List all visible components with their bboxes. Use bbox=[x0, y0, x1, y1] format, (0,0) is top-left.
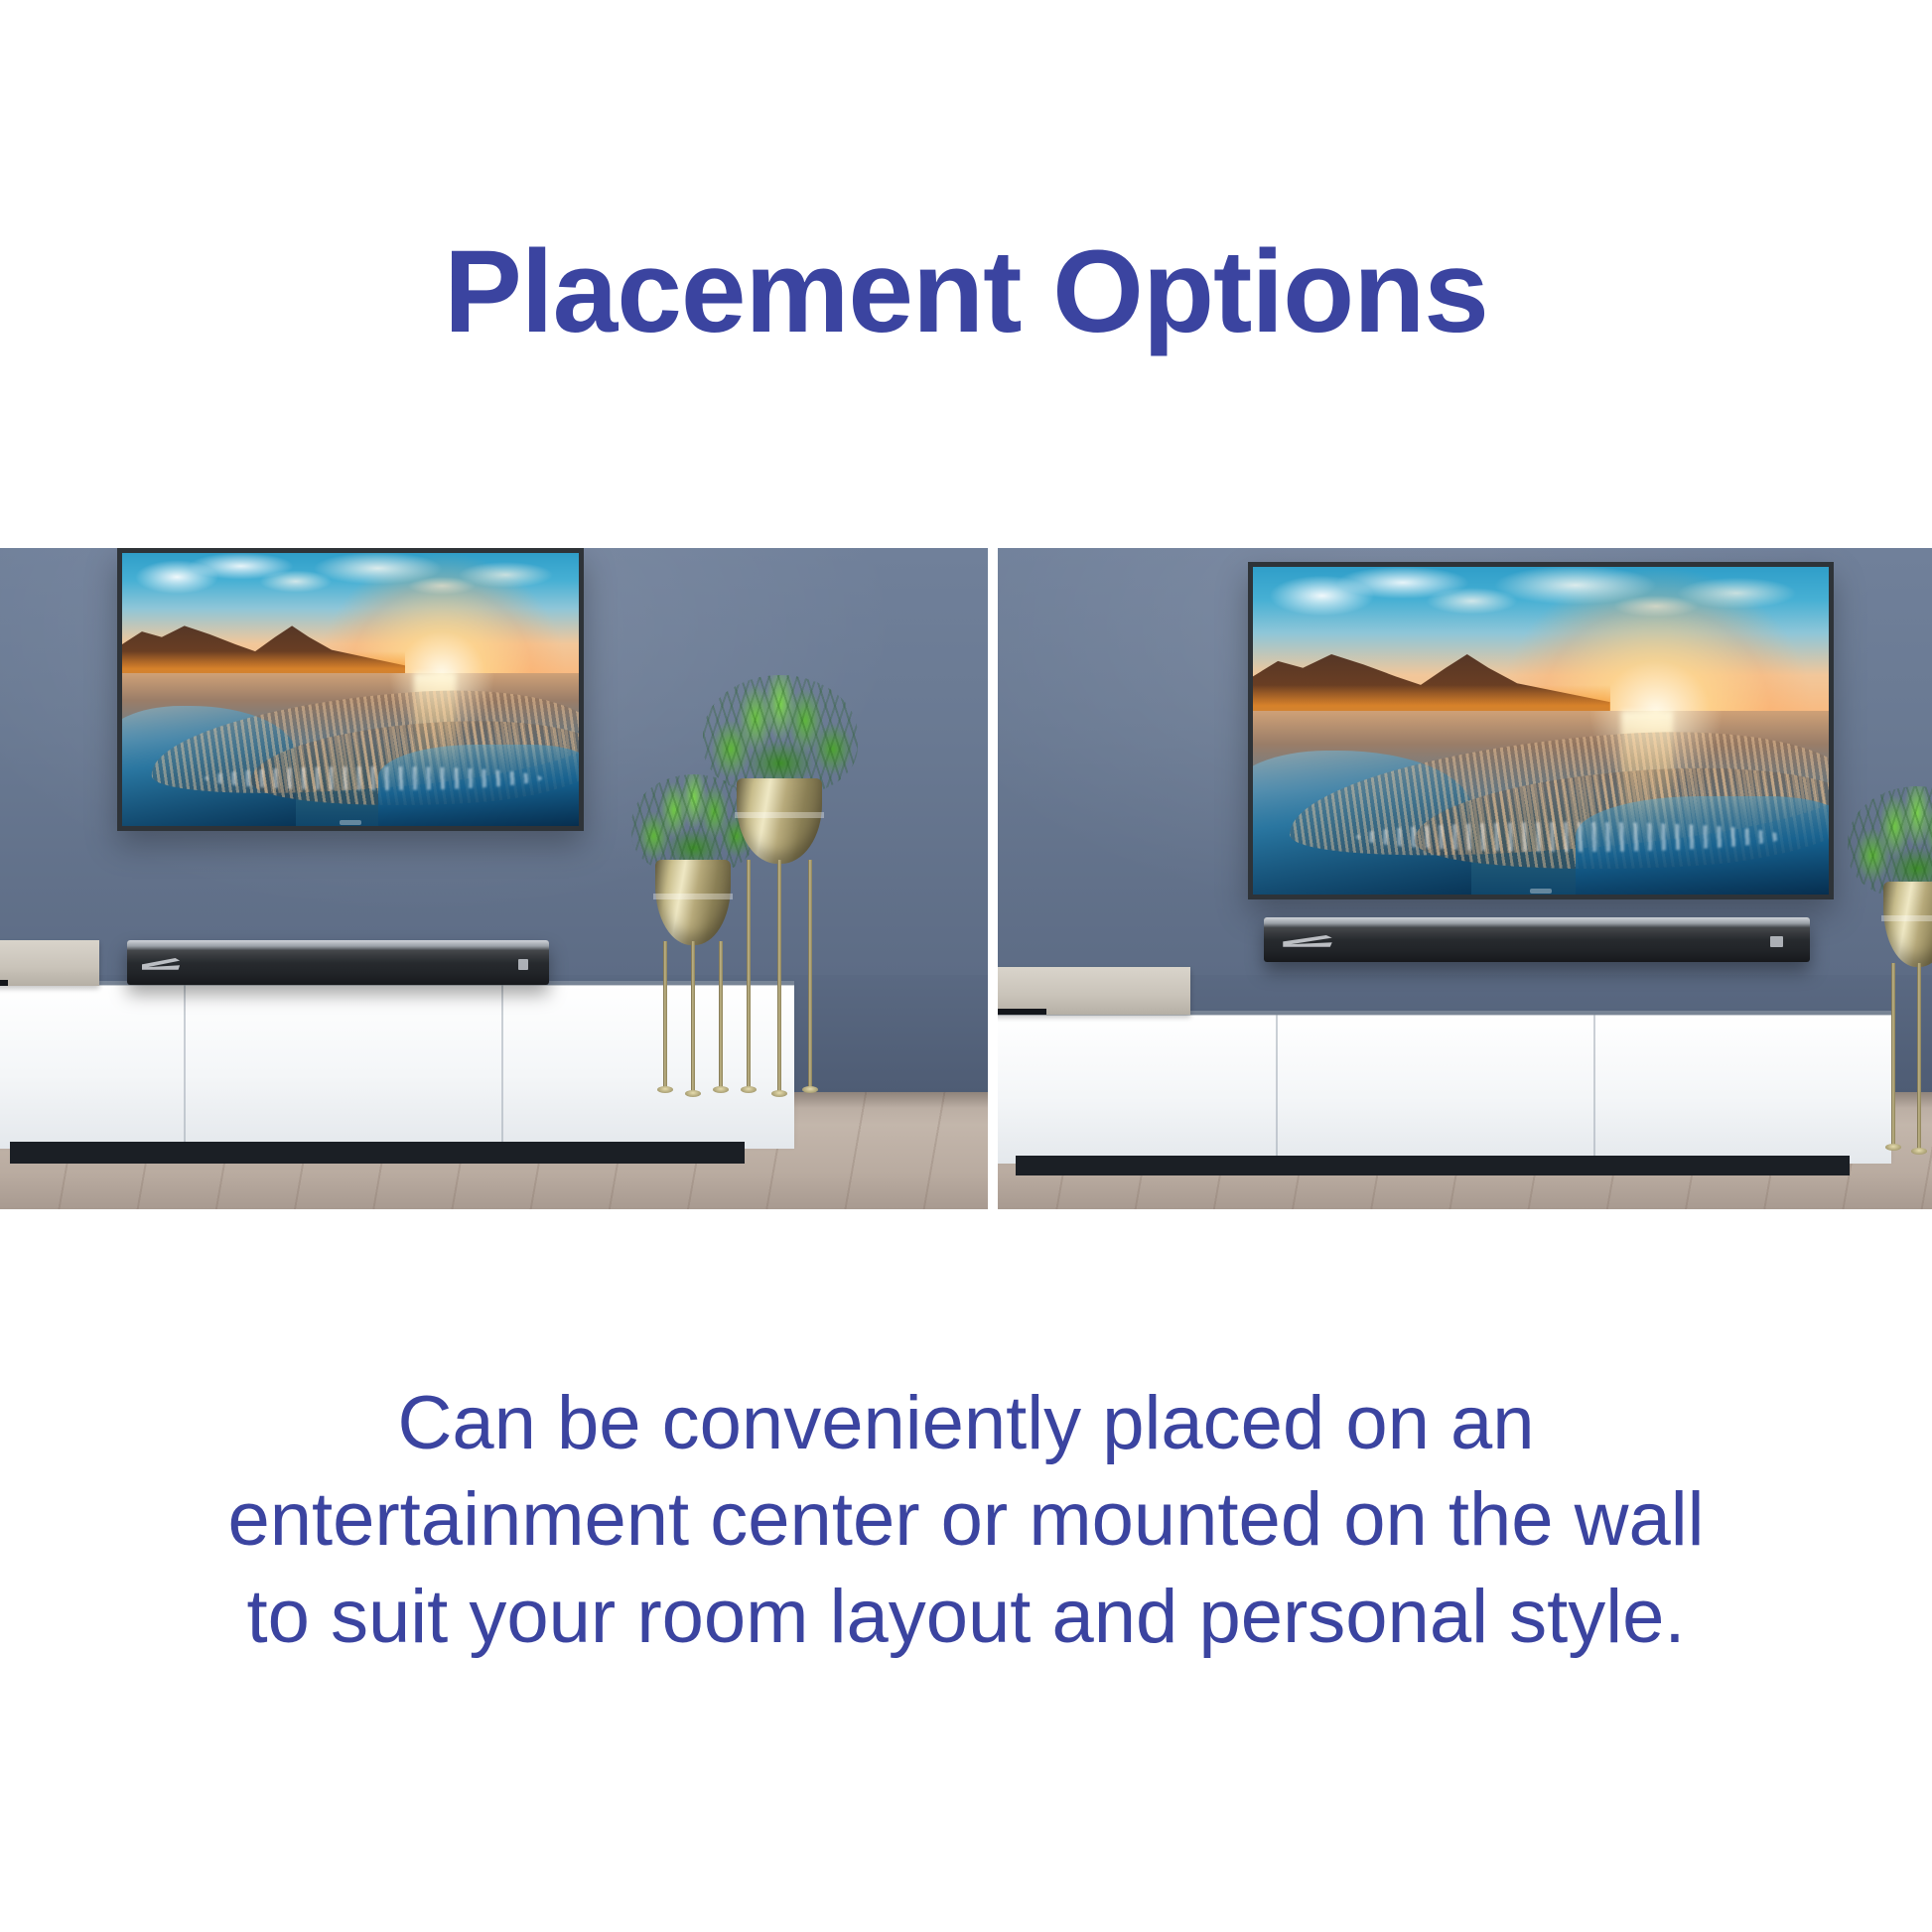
tv-surf-foam bbox=[1356, 822, 1782, 852]
console-seam bbox=[184, 985, 186, 1149]
soundbar-status-indicator-icon bbox=[518, 959, 527, 970]
caption-line-3: to suit your room layout and personal st… bbox=[129, 1569, 1803, 1665]
soundbar-status-indicator-icon bbox=[1770, 936, 1782, 947]
brass-pot bbox=[1883, 882, 1932, 967]
media-box bbox=[0, 940, 99, 986]
planter-tall bbox=[737, 778, 822, 1094]
page-title: Placement Options bbox=[0, 228, 1932, 357]
planter-foot bbox=[713, 1086, 729, 1093]
planter-leg bbox=[1891, 963, 1895, 1148]
caption-line-2: entertainment center or mounted on the w… bbox=[129, 1471, 1803, 1568]
pot-rim-band bbox=[1881, 915, 1932, 921]
planter-leg bbox=[663, 941, 667, 1090]
planter-foot bbox=[741, 1086, 757, 1093]
soundbar-sheen bbox=[127, 950, 549, 964]
soundbar-sheen bbox=[1264, 927, 1810, 941]
caption-text: Can be conveniently placed on an enterta… bbox=[0, 1375, 1932, 1665]
tv-surf-foam bbox=[205, 766, 542, 791]
panel-soundbar-wall-mounted bbox=[998, 548, 1932, 1209]
planter-leg bbox=[777, 860, 781, 1094]
media-box bbox=[998, 967, 1190, 1015]
planter-foot bbox=[685, 1090, 701, 1097]
planter-foot bbox=[771, 1090, 787, 1097]
television bbox=[117, 548, 584, 831]
entertainment-console bbox=[998, 1015, 1891, 1164]
console-seam bbox=[1593, 1015, 1595, 1164]
tv-screen bbox=[122, 553, 579, 826]
tv-brand-logo-icon bbox=[340, 820, 361, 825]
pot-rim-band bbox=[735, 812, 824, 818]
planter-leg bbox=[747, 860, 751, 1090]
fern-plant bbox=[703, 675, 858, 794]
panel-soundbar-on-console bbox=[0, 548, 988, 1209]
planter-leg bbox=[691, 941, 695, 1094]
soundbar-device bbox=[127, 940, 549, 985]
pot-rim-band bbox=[653, 894, 733, 899]
caption-line-1: Can be conveniently placed on an bbox=[129, 1375, 1803, 1471]
planter-leg bbox=[1917, 963, 1921, 1152]
soundbar-top-lip bbox=[1264, 917, 1810, 927]
console-seam bbox=[1276, 1015, 1278, 1164]
planter-leg bbox=[808, 860, 812, 1090]
planter-short bbox=[655, 860, 731, 1094]
planter-foot bbox=[1885, 1144, 1901, 1151]
planter-foot bbox=[802, 1086, 818, 1093]
brass-pot bbox=[655, 860, 731, 945]
console-plinth bbox=[10, 1142, 745, 1164]
soundbar-top-lip bbox=[127, 940, 549, 950]
console-plinth bbox=[1016, 1156, 1850, 1175]
planter-tall bbox=[1883, 882, 1932, 1152]
planter-foot bbox=[657, 1086, 673, 1093]
television bbox=[1248, 562, 1834, 899]
planter-foot bbox=[1911, 1148, 1927, 1155]
planter-leg bbox=[719, 941, 723, 1090]
console-seam bbox=[501, 985, 503, 1149]
brass-pot bbox=[737, 778, 822, 864]
fern-fronds bbox=[703, 675, 858, 794]
tv-brand-logo-icon bbox=[1530, 889, 1552, 894]
tv-screen bbox=[1253, 567, 1829, 895]
placement-images-row bbox=[0, 548, 1932, 1209]
soundbar-device bbox=[1264, 917, 1810, 962]
